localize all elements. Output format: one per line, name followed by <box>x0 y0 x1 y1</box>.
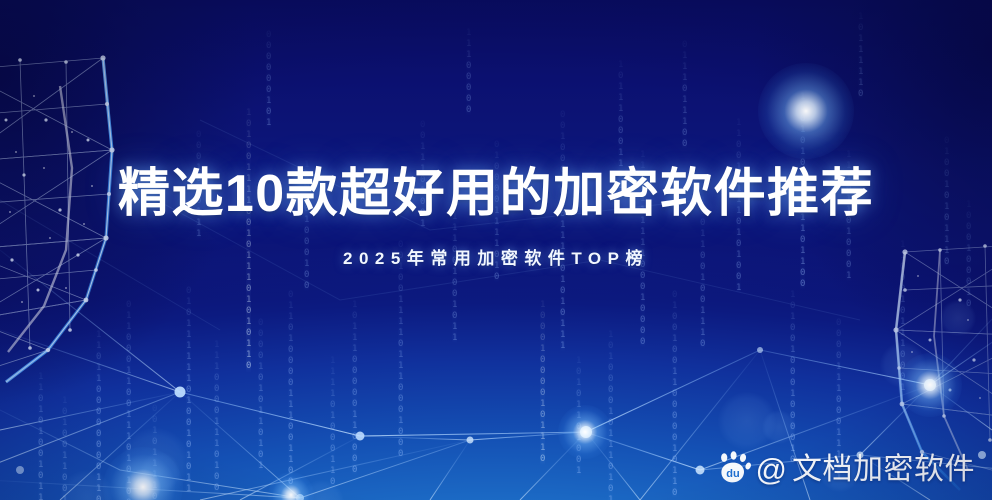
binary-rain-column: 1 1 1 0 0 0 0 0 <box>466 28 471 116</box>
binary-rain-column: 0 0 0 0 1 0 1 0 1 1 0 1 0 1 <box>258 318 263 472</box>
binary-rain-column: 1 1 0 1 0 1 0 0 1 0 1 1 <box>38 372 43 500</box>
binary-rain-column: 0 1 0 0 1 0 0 1 1 0 0 0 0 0 1 0 1 1 0 <box>672 290 677 499</box>
watermark-account-name: 文档加密软件 <box>792 455 975 485</box>
title-block: 精选10款超好用的加密软件推荐 2025年常用加密软件TOP榜 <box>0 168 992 267</box>
binary-rain-column: 0 1 1 0 1 0 0 0 0 1 1 1 0 0 1 1 0 0 <box>288 290 293 488</box>
binary-rain-column: 1 0 1 1 1 0 0 0 0 0 1 1 0 0 0 0 <box>352 300 357 476</box>
binary-rain-column: 1 0 1 0 1 1 0 1 0 0 1 <box>576 356 581 477</box>
binary-rain-column: 1 0 1 0 0 1 0 0 0 1 0 0 0 0 1 0 <box>790 290 795 466</box>
binary-rain-column: 1 0 1 0 0 0 0 1 0 1 1 1 0 1 0 1 <box>608 330 613 500</box>
baidu-logo-text: du <box>726 468 739 480</box>
binary-rain-column: 1 1 1 1 0 1 0 0 0 1 1 0 <box>330 356 335 488</box>
baidu-paw-icon: du <box>717 451 751 488</box>
binary-rain-column: 0 0 0 0 0 0 1 0 1 <box>266 30 271 129</box>
watermark: du @ 文档加密软件 <box>717 451 975 488</box>
page-subtitle: 2025年常用加密软件TOP榜 <box>0 250 992 267</box>
at-symbol: @ <box>756 454 787 485</box>
binary-rain-column: 0 1 1 1 0 1 1 1 0 0 <box>682 40 687 150</box>
binary-rain-column: 1 1 1 0 0 0 0 1 1 1 0 1 0 0 <box>214 340 219 494</box>
binary-rain-column: 0 0 1 0 0 1 1 1 1 0 1 1 1 0 0 0 1 0 0 0 <box>398 240 403 460</box>
banner-root: 1 1 0 1 0 1 0 0 1 0 1 1 1 0 1 0 0 1 1 0 … <box>0 0 992 500</box>
binary-rain-column: 1 0 1 1 1 1 1 0 <box>858 12 863 100</box>
binary-rain-column: 1 0 0 0 1 0 0 0 0 1 0 1 1 1 0 <box>540 300 545 465</box>
page-title: 精选10款超好用的加密软件推荐 <box>0 168 992 220</box>
